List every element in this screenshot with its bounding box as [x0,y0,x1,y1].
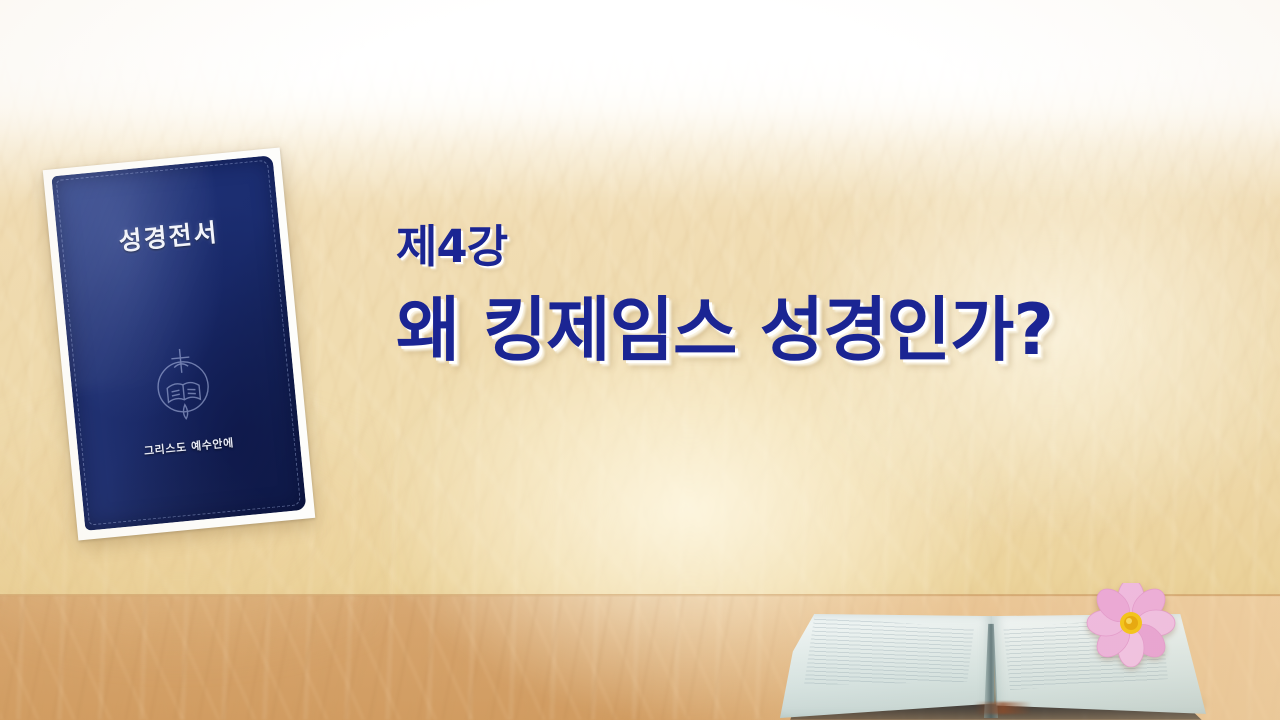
bible-cover: 성경전서 그리스도 예수안에 [51,155,306,531]
presentation-slide: 성경전서 그리스도 예수안에 [0,0,1280,720]
open-bible-binding-edge [974,702,1032,714]
bible-photo: 성경전서 그리스도 예수안에 [43,147,316,540]
pink-cosmos-flower-icon [1083,583,1179,667]
lecture-number-kicker: 제4강 [396,222,1186,272]
slide-title: 왜 킹제임스 성경인가? [396,292,1186,369]
headline-block: 제4강 왜 킹제임스 성경인가? [396,222,1186,369]
open-book-cross-emblem [142,339,223,426]
